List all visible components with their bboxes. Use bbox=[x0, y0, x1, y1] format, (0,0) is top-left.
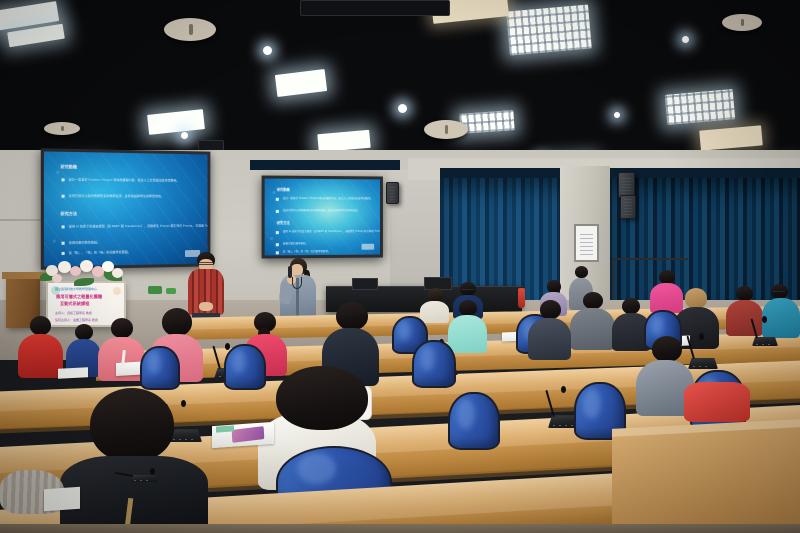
head bbox=[652, 336, 682, 362]
wall-speaker-icon bbox=[386, 182, 399, 204]
ceiling-diffuser-icon bbox=[722, 14, 762, 31]
green-object bbox=[166, 288, 176, 294]
slide-bullet: 從「教」、「學」到「用」的完整學習歷程。 bbox=[69, 249, 131, 255]
floor-strip bbox=[0, 524, 800, 533]
ceiling-diffuser-icon bbox=[424, 120, 468, 139]
glasses-icon bbox=[462, 289, 474, 291]
chair[interactable] bbox=[140, 346, 180, 390]
head bbox=[459, 300, 477, 316]
panel-light-icon bbox=[665, 89, 735, 125]
leaf bbox=[74, 278, 94, 286]
ceiling-vent-icon bbox=[699, 125, 763, 150]
paper-sheet bbox=[44, 487, 80, 512]
desk-microphone bbox=[130, 470, 158, 482]
chair-highlight bbox=[651, 315, 664, 336]
poster-decor bbox=[113, 287, 121, 295]
panel-light-icon bbox=[317, 130, 370, 152]
mic-capsule bbox=[561, 386, 566, 393]
head bbox=[622, 298, 640, 314]
slide-bullet: 此研究將可以提供教師更多的教學資源，並有效提昇學生的學習成效。 bbox=[69, 193, 164, 198]
slide-bullet: 運用 AI 技術下的語言模型（如 BERT 與 Transformer），自動產… bbox=[283, 229, 380, 233]
head bbox=[162, 308, 192, 336]
panel-light-icon bbox=[506, 5, 592, 56]
spotlight-icon bbox=[181, 132, 188, 139]
head bbox=[75, 324, 93, 340]
paper-sheet bbox=[58, 367, 88, 379]
mic-capsule bbox=[699, 333, 704, 340]
attendee-foreground-right bbox=[228, 400, 408, 533]
chair-highlight bbox=[232, 350, 246, 374]
glasses-icon bbox=[772, 291, 785, 293]
attendee-gray-jacket bbox=[570, 292, 616, 348]
attendee-teal bbox=[762, 284, 800, 336]
wall-notice-frame bbox=[574, 224, 599, 262]
attendee bbox=[726, 286, 764, 334]
head bbox=[336, 302, 368, 330]
right-screen-surface: 研究動機 設計一套基於 Problem / Project 導向的課程內容，結合… bbox=[265, 179, 380, 256]
floral-arrangement bbox=[36, 256, 128, 286]
flower bbox=[52, 274, 62, 283]
glasses-icon bbox=[199, 262, 213, 265]
head bbox=[276, 366, 368, 430]
poster-line-1: 國立臺灣科技大學教學發展中心 bbox=[55, 287, 97, 291]
slide-heading-1: 研究動機 bbox=[61, 164, 77, 170]
slide-heading-2: 研究方法 bbox=[61, 211, 77, 217]
slide-heading-2: 研究方法 bbox=[277, 220, 290, 225]
poster-line-2: 應用可攜式之輕量化團體 bbox=[56, 294, 102, 300]
head bbox=[111, 318, 133, 338]
torso bbox=[60, 456, 208, 533]
mic-capsule bbox=[150, 468, 155, 475]
left-screen-surface: 研究動機 設計一套基於 Problem / Project 導向的課程內容，結合… bbox=[44, 151, 208, 266]
chair-highlight bbox=[147, 351, 161, 374]
poster-line-4: 主持人：資訊工程學系 教授 bbox=[55, 311, 92, 315]
slide-bullet: 此研究將可以提供教師更多的教學資源，並有效提昇學生的學習成效。 bbox=[283, 208, 360, 212]
head bbox=[575, 266, 588, 278]
panel-light-icon bbox=[275, 69, 327, 97]
slide-logo bbox=[361, 244, 374, 250]
head bbox=[90, 388, 174, 462]
lecture-hall-photo: 研究動機 設計一套基於 Problem / Project 導向的課程內容，結合… bbox=[0, 0, 800, 533]
wall-speaker-icon bbox=[620, 195, 636, 219]
boom-mic-arm bbox=[614, 258, 688, 260]
slide-bullet: 建構完整的教學模組。 bbox=[69, 239, 100, 244]
attendee-foreground-black bbox=[60, 388, 210, 533]
water-bottle bbox=[518, 288, 525, 308]
mic-base bbox=[130, 475, 158, 482]
slide-bullet: 從「教」、「學」到「用」的完整學習歷程。 bbox=[283, 249, 331, 253]
green-object bbox=[148, 286, 162, 294]
mic-capsule bbox=[762, 316, 767, 323]
jacket bbox=[18, 334, 63, 378]
slide-bullet: 設計一套基於 Problem / Project 導向的課程內容，結合人工智慧與… bbox=[69, 176, 180, 182]
spotlight-icon bbox=[398, 104, 407, 113]
chair-highlight bbox=[457, 399, 475, 429]
attendee-back-right bbox=[528, 300, 572, 356]
head bbox=[583, 292, 603, 309]
slide-heading-1: 研究動機 bbox=[277, 187, 290, 192]
aisle-step bbox=[612, 425, 800, 533]
ceiling-diffuser-icon bbox=[164, 18, 216, 41]
spotlight-icon bbox=[614, 112, 620, 118]
chair-highlight bbox=[420, 346, 435, 371]
head bbox=[736, 286, 753, 301]
monitor-icon bbox=[352, 278, 378, 290]
spotlight-icon bbox=[263, 46, 272, 55]
slide-bullet: 建構完整的教學模組。 bbox=[283, 241, 308, 245]
panel-light-icon bbox=[147, 109, 205, 135]
head bbox=[659, 270, 675, 284]
curtain-valance bbox=[250, 160, 400, 170]
chair-highlight bbox=[583, 389, 601, 419]
head bbox=[685, 288, 707, 308]
head bbox=[30, 316, 51, 335]
red-jacket-on-chair bbox=[684, 382, 750, 422]
notice-text-lines bbox=[580, 231, 593, 255]
head bbox=[540, 300, 561, 319]
poster-line-3: 互動式系統課程 bbox=[60, 301, 89, 307]
slide-bullet: 運用 AI 技術下的語言模型（如 BERT 與 Transformer），自動產… bbox=[69, 222, 208, 228]
chair-highlight bbox=[398, 321, 410, 341]
jacket bbox=[570, 308, 615, 350]
ceiling-diffuser-icon bbox=[44, 122, 80, 135]
right-projection-screen: 研究動機 設計一套基於 Problem / Project 導向的課程內容，結合… bbox=[262, 175, 383, 258]
left-projection-screen: 研究動機 設計一套基於 Problem / Project 導向的課程內容，結合… bbox=[41, 148, 211, 269]
slide-bullet: 設計一套基於 Problem / Project 導向的課程內容，結合人工智慧與… bbox=[283, 196, 373, 200]
chair[interactable] bbox=[448, 392, 500, 450]
head bbox=[428, 288, 443, 302]
ceiling-beam bbox=[300, 0, 450, 16]
chair-back bbox=[448, 392, 500, 450]
chair[interactable] bbox=[412, 340, 456, 388]
torso bbox=[528, 318, 571, 360]
attendee-red bbox=[18, 316, 64, 376]
spotlight-icon bbox=[682, 36, 689, 43]
desk-microphone bbox=[752, 330, 778, 346]
flower bbox=[112, 268, 123, 278]
lanyard bbox=[292, 277, 302, 289]
